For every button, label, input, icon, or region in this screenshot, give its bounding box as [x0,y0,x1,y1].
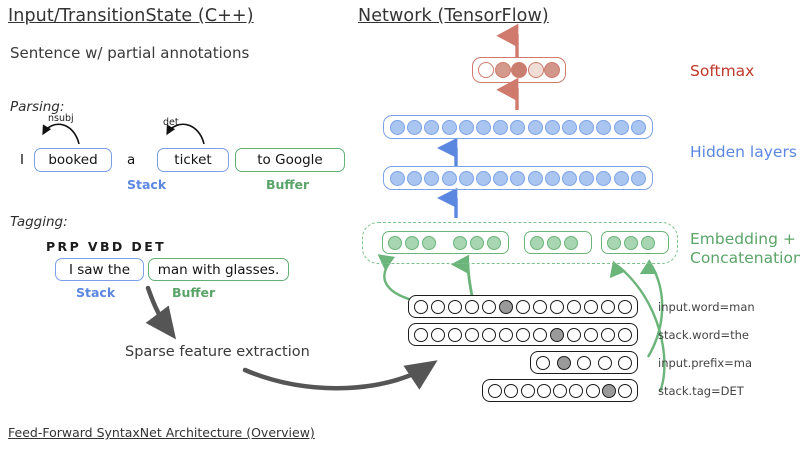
sparse-feature-row-4[interactable] [482,379,638,402]
hidden-unit [442,120,457,135]
sparse-cell [618,356,632,370]
hidden-unit [631,171,646,186]
sparse-cell-active [557,356,571,370]
sparse-cell [601,328,615,342]
sparse-cell [567,300,581,314]
hidden-unit [510,171,525,186]
sparse-cell [618,384,632,398]
softmax-unit [495,62,511,78]
sparse-cell [586,384,600,398]
sparse-cell-active [550,328,564,342]
softmax-unit [544,62,560,78]
hidden-unit [614,120,629,135]
sparse-feature-label-4: stack.tag=DET [658,384,744,398]
hidden-unit [459,120,474,135]
sparse-cell [482,300,496,314]
sparse-cell [465,300,479,314]
hidden-unit [407,120,422,135]
sparse-cell [567,328,581,342]
sparse-cell [521,384,535,398]
hidden-unit [596,120,611,135]
sparse-feature-label-2: stack.word=the [658,328,749,342]
sparse-cell [577,356,591,370]
sparse-cell [504,384,518,398]
sparse-feature-row-1[interactable] [408,295,638,318]
hidden-unit [424,171,439,186]
sparse-cell [601,300,615,314]
hidden-unit [493,171,508,186]
sparse-cell [431,300,445,314]
sparse-feature-label-3: input.prefix=ma [658,356,752,370]
sparse-cell [482,328,496,342]
softmax-unit [511,62,527,78]
sparse-feature-row-3[interactable] [530,351,638,374]
sparse-cell [569,384,583,398]
sparse-cell [618,328,632,342]
sparse-cell [414,300,428,314]
hidden-unit [476,171,491,186]
sparse-cell [536,356,550,370]
softmax-unit [528,62,544,78]
hidden-unit [493,120,508,135]
hidden-unit [545,120,560,135]
hidden-unit [390,120,405,135]
sparse-cell [465,328,479,342]
softmax-label: Softmax [690,62,754,80]
sparse-cell [488,384,502,398]
sparse-cell-active [602,384,616,398]
softmax-unit [478,62,494,78]
softmax-layer[interactable] [472,57,566,83]
sparse-cell [448,328,462,342]
hidden-unit [390,171,405,186]
sparse-cell [516,328,530,342]
hidden-unit [596,171,611,186]
hidden-layer-2[interactable] [383,166,653,190]
sparse-cell [537,384,551,398]
hidden-layers-label: Hidden layers [690,143,797,161]
hidden-layer-1[interactable] [383,115,653,139]
hidden-unit [545,171,560,186]
hidden-unit [562,171,577,186]
hidden-unit [579,171,594,186]
sparse-cell [553,384,567,398]
hidden-unit [614,171,629,186]
sparse-cell [598,356,612,370]
sparse-cell [499,328,513,342]
sparse-cell [516,300,530,314]
hidden-unit [407,171,422,186]
sparse-cell [584,328,598,342]
sparse-feature-label-1: input.word=man [658,300,755,314]
hidden-unit [442,171,457,186]
hidden-unit [631,120,646,135]
hidden-unit [476,120,491,135]
sparse-cell [533,328,547,342]
hidden-unit [579,120,594,135]
sparse-cell [414,328,428,342]
sparse-cell [550,300,564,314]
sparse-cell [584,300,598,314]
hidden-unit [562,120,577,135]
embedding-to-hidden-arrow [0,0,800,450]
sparse-cell [618,300,632,314]
sparse-cell [448,300,462,314]
hidden-unit [510,120,525,135]
hidden-unit [459,171,474,186]
sparse-feature-row-2[interactable] [408,323,638,346]
sparse-cell [431,328,445,342]
sparse-cell [533,300,547,314]
hidden-unit [528,120,543,135]
sparse-cell-active [499,300,513,314]
hidden-unit [528,171,543,186]
hidden-unit [424,120,439,135]
